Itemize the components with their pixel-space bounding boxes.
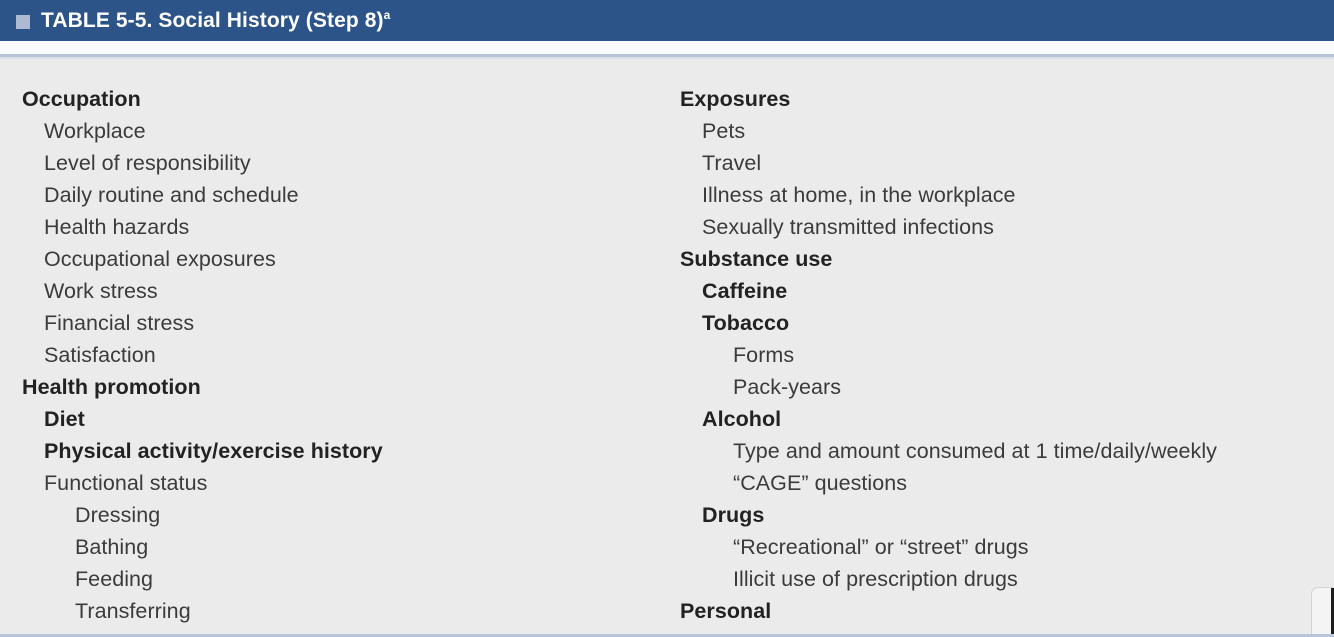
table-entry: Transferring: [75, 595, 642, 627]
table-entry: Personal: [680, 595, 1320, 627]
table-entry: Travel: [702, 147, 1320, 179]
table-entry: Substance use: [680, 243, 1320, 275]
table-entry: Pack-years: [733, 371, 1320, 403]
table-entry: Physical activity/exercise history: [44, 435, 642, 467]
table-entry: Health hazards: [44, 211, 642, 243]
table-entry: Alcohol: [702, 403, 1320, 435]
header-underline-white: [0, 41, 1334, 54]
table-entry: “CAGE” questions: [733, 467, 1320, 499]
table-header-bar: TABLE 5-5. Social History (Step 8)a: [0, 0, 1334, 41]
table-entry: Dressing: [75, 499, 642, 531]
table-body: OccupationWorkplaceLevel of responsibili…: [0, 59, 1334, 634]
table-entry: Forms: [733, 339, 1320, 371]
table-entry: Work stress: [44, 275, 642, 307]
table-entry: Workplace: [44, 115, 642, 147]
table-figure: TABLE 5-5. Social History (Step 8)a Occu…: [0, 0, 1334, 637]
table-entry: Sexually transmitted infections: [702, 211, 1320, 243]
table-entry: Drugs: [702, 499, 1320, 531]
page-corner-tab[interactable]: [1311, 587, 1334, 634]
table-entry: Level of responsibility: [44, 147, 642, 179]
table-title: TABLE 5-5. Social History (Step 8)a: [41, 10, 390, 31]
table-entry: Daily routine and schedule: [44, 179, 642, 211]
table-entry: Functional status: [44, 467, 642, 499]
table-entry: Caffeine: [702, 275, 1320, 307]
table-entry: Feeding: [75, 563, 642, 595]
table-entry: Tobacco: [702, 307, 1320, 339]
table-entry: Diet: [44, 403, 642, 435]
table-entry: Pets: [702, 115, 1320, 147]
table-entry: Exposures: [680, 83, 1320, 115]
table-title-footnote-marker: a: [384, 8, 391, 22]
square-bullet-icon: [16, 15, 30, 29]
table-entry: Type and amount consumed at 1 time/daily…: [733, 435, 1320, 467]
table-entry: Occupational exposures: [44, 243, 642, 275]
table-entry: Satisfaction: [44, 339, 642, 371]
table-entry: Health promotion: [22, 371, 642, 403]
table-column-left: OccupationWorkplaceLevel of responsibili…: [22, 83, 642, 637]
table-entry: Bathing: [75, 531, 642, 563]
table-entry: “Recreational” or “street” drugs: [733, 531, 1320, 563]
table-entry: Occupation: [22, 83, 642, 115]
table-title-text: TABLE 5-5. Social History (Step 8): [41, 9, 384, 32]
table-entry: Financial stress: [44, 307, 642, 339]
table-column-right: ExposuresPetsTravelIllness at home, in t…: [680, 83, 1320, 637]
table-entry: Illness at home, in the workplace: [702, 179, 1320, 211]
table-entry: Illicit use of prescription drugs: [733, 563, 1320, 595]
